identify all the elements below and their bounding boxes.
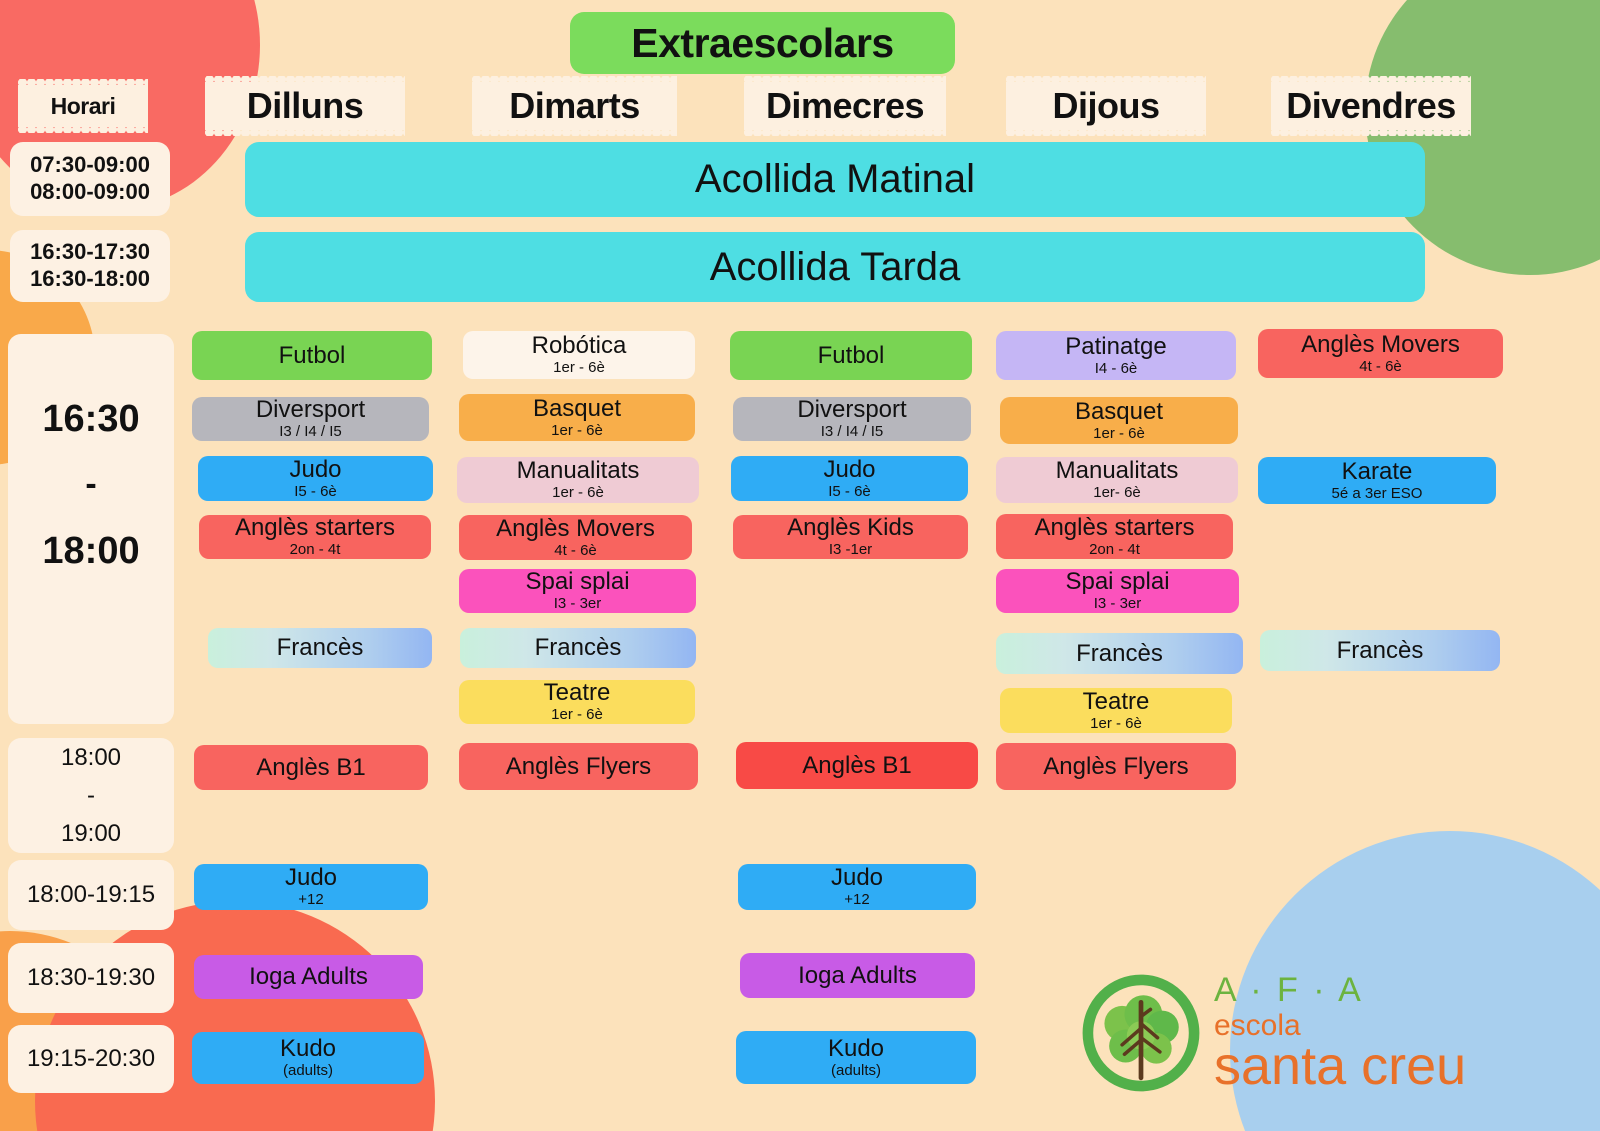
activity-dijous-spai-splai[interactable]: Spai splai I3 - 3er [996, 569, 1239, 613]
activity-sub: 1er - 6è [551, 422, 603, 439]
time-line: 16:30-17:30 [30, 239, 150, 266]
time-line: 18:00 [61, 743, 121, 772]
activity-dimarts-basquet[interactable]: Basquet 1er - 6è [459, 394, 695, 441]
wide-bar-acollida-matinal[interactable]: Acollida Matinal [245, 142, 1425, 217]
page-title: Extraescolars [570, 12, 955, 74]
time-line: 16:30-18:00 [30, 266, 150, 293]
activity-sub: I3 -1er [829, 541, 872, 558]
activity-dimarts-robotica[interactable]: Robótica 1er - 6è [463, 331, 695, 379]
activity-dijous-angles-starters[interactable]: Anglès starters 2on - 4t [996, 514, 1233, 559]
time-line: 16:30 [42, 396, 139, 442]
activity-dijous-angles-flyers[interactable]: Anglès Flyers [996, 743, 1236, 790]
decorative-blob-bottom-left [35, 901, 435, 1131]
activity-sub: 1er - 6è [552, 484, 604, 501]
column-header-divendres: Divendres [1271, 82, 1471, 130]
activity-sub: I5 - 6è [294, 483, 337, 500]
activity-name: Judo [823, 457, 875, 482]
activity-dimarts-angles-movers[interactable]: Anglès Movers 4t - 6è [459, 515, 692, 560]
activity-sub: I3 / I4 / I5 [279, 423, 342, 440]
activity-name: Kudo [280, 1036, 336, 1061]
activity-sub: 1er - 6è [1090, 715, 1142, 732]
activity-sub: I3 / I4 / I5 [821, 423, 884, 440]
activity-divendres-angles-movers[interactable]: Anglès Movers 4t - 6è [1258, 329, 1503, 378]
activity-name: Judo [831, 865, 883, 890]
activity-name: Anglès Flyers [1043, 754, 1188, 779]
logo-santa-creu: santa creu [1214, 1039, 1466, 1093]
activity-name: Manualitats [1056, 458, 1179, 483]
time-card-evening3: 18:30-19:30 [8, 943, 174, 1013]
activity-sub: +12 [298, 891, 323, 908]
activity-sub: 4t - 6è [1359, 358, 1402, 375]
logo-afa: A · F · A [1214, 973, 1466, 1007]
activity-sub: I3 - 3er [1094, 595, 1142, 612]
activity-sub: 1er - 6è [551, 706, 603, 723]
activity-dimecres-ioga-adults[interactable]: Ioga Adults [740, 953, 975, 998]
activity-dijous-manualitats[interactable]: Manualitats 1er- 6è [996, 457, 1238, 503]
activity-dilluns-futbol[interactable]: Futbol [192, 331, 432, 380]
activity-sub: 1er - 6è [1093, 425, 1145, 442]
activity-name: Robótica [532, 333, 627, 358]
logo: A · F · A escola santa creu [1082, 960, 1542, 1105]
activity-sub: I5 - 6è [828, 483, 871, 500]
activity-name: Anglès Flyers [506, 754, 651, 779]
activity-dimecres-judo[interactable]: Judo I5 - 6è [731, 456, 968, 501]
time-line: 19:00 [61, 819, 121, 848]
activity-name: Anglès starters [235, 515, 395, 540]
activity-sub: (adults) [831, 1062, 881, 1079]
activity-name: Manualitats [517, 458, 640, 483]
activity-name: Futbol [818, 343, 885, 368]
time-card-morning: 07:30-09:00 08:00-09:00 [10, 142, 170, 216]
activity-dimarts-manualitats[interactable]: Manualitats 1er - 6è [457, 457, 699, 503]
activity-sub: 5é a 3er ESO [1332, 485, 1423, 502]
column-header-dimarts: Dimarts [472, 82, 677, 130]
activity-name: Basquet [1075, 399, 1163, 424]
time-line: 18:30-19:30 [27, 963, 155, 992]
activity-dilluns-kudo[interactable]: Kudo (adults) [192, 1032, 424, 1084]
time-line: 18:00 [42, 528, 139, 574]
activity-name: Francès [1076, 641, 1163, 666]
activity-name: Francès [277, 635, 364, 660]
time-card-evening2: 18:00-19:15 [8, 860, 174, 930]
wide-bar-label: Acollida Matinal [695, 157, 975, 202]
time-card-main: 16:30 - 18:00 [8, 334, 174, 724]
wide-bar-label: Acollida Tarda [710, 245, 961, 290]
time-card-evening4: 19:15-20:30 [8, 1025, 174, 1093]
column-header-dimecres: Dimecres [744, 82, 946, 130]
activity-sub: 4t - 6è [554, 542, 597, 559]
activity-dimecres-angles-b1[interactable]: Anglès B1 [736, 742, 978, 789]
activity-dilluns-angles-b1[interactable]: Anglès B1 [194, 745, 428, 790]
activity-name: Basquet [533, 396, 621, 421]
activity-dijous-frances[interactable]: Francès [996, 633, 1243, 674]
time-line: - [85, 464, 96, 505]
activity-name: Anglès Movers [1301, 332, 1460, 357]
activity-dijous-basquet[interactable]: Basquet 1er - 6è [1000, 397, 1238, 444]
activity-dilluns-frances[interactable]: Francès [208, 628, 432, 668]
activity-dimarts-angles-flyers[interactable]: Anglès Flyers [459, 743, 698, 790]
activity-divendres-frances[interactable]: Francès [1260, 630, 1500, 671]
activity-dilluns-angles-starters[interactable]: Anglès starters 2on - 4t [199, 515, 431, 559]
activity-name: Anglès Movers [496, 516, 655, 541]
activity-name: Spai splai [1065, 569, 1169, 594]
activity-name: Karate [1342, 459, 1413, 484]
activity-sub: 2on - 4t [1089, 541, 1140, 558]
activity-name: Anglès starters [1034, 515, 1194, 540]
activity-name: Teatre [544, 680, 611, 705]
activity-sub: I4 - 6è [1095, 360, 1138, 377]
tree-icon [1082, 974, 1200, 1092]
activity-dimecres-judo-12[interactable]: Judo +12 [738, 864, 976, 910]
activity-dilluns-diversport[interactable]: Diversport I3 / I4 / I5 [192, 397, 429, 441]
column-header-horari: Horari [18, 85, 148, 127]
activity-sub: I3 - 3er [554, 595, 602, 612]
activity-name: Judo [289, 457, 341, 482]
activity-dilluns-judo-12[interactable]: Judo +12 [194, 864, 428, 910]
activity-dimecres-diversport[interactable]: Diversport I3 / I4 / I5 [733, 397, 971, 441]
activity-dimarts-spai-splai[interactable]: Spai splai I3 - 3er [459, 569, 696, 613]
time-line: 18:00-19:15 [27, 880, 155, 909]
activity-name: Patinatge [1065, 334, 1166, 359]
activity-sub: 2on - 4t [290, 541, 341, 558]
column-header-dijous: Dijous [1006, 82, 1206, 130]
activity-name: Ioga Adults [249, 964, 368, 989]
activity-sub: +12 [844, 891, 869, 908]
activity-dimecres-kudo[interactable]: Kudo (adults) [736, 1031, 976, 1084]
activity-divendres-karate[interactable]: Karate 5é a 3er ESO [1258, 457, 1496, 504]
wide-bar-acollida-tarda[interactable]: Acollida Tarda [245, 232, 1425, 302]
poster-canvas: Extraescolars Horari Dilluns Dimarts Dim… [0, 0, 1600, 1131]
activity-name: Ioga Adults [798, 963, 917, 988]
activity-name: Kudo [828, 1036, 884, 1061]
time-card-afternoon: 16:30-17:30 16:30-18:00 [10, 230, 170, 302]
column-header-dilluns: Dilluns [205, 82, 405, 130]
activity-dimarts-teatre[interactable]: Teatre 1er - 6è [459, 680, 695, 724]
activity-name: Anglès B1 [802, 753, 911, 778]
activity-sub: 1er - 6è [553, 359, 605, 376]
activity-dimarts-frances[interactable]: Francès [460, 628, 696, 668]
activity-sub: (adults) [283, 1062, 333, 1079]
activity-dilluns-judo[interactable]: Judo I5 - 6è [198, 456, 433, 501]
activity-name: Francès [1337, 638, 1424, 663]
activity-name: Anglès B1 [256, 755, 365, 780]
time-line: 19:15-20:30 [27, 1044, 155, 1073]
activity-name: Anglès Kids [787, 515, 914, 540]
activity-name: Futbol [279, 343, 346, 368]
activity-dijous-teatre[interactable]: Teatre 1er - 6è [1000, 688, 1232, 733]
time-line: 08:00-09:00 [30, 179, 150, 206]
activity-name: Judo [285, 865, 337, 890]
activity-dimecres-futbol[interactable]: Futbol [730, 331, 972, 380]
activity-dijous-patinatge[interactable]: Patinatge I4 - 6è [996, 331, 1236, 380]
time-line: 07:30-09:00 [30, 152, 150, 179]
activity-name: Spai splai [525, 569, 629, 594]
activity-name: Teatre [1083, 689, 1150, 714]
time-card-evening1: 18:00 - 19:00 [8, 738, 174, 853]
time-line: - [87, 781, 95, 810]
activity-name: Francès [535, 635, 622, 660]
activity-name: Diversport [256, 397, 365, 422]
activity-dilluns-ioga-adults[interactable]: Ioga Adults [194, 955, 423, 999]
activity-sub: 1er- 6è [1093, 484, 1141, 501]
activity-dimecres-angles-kids[interactable]: Anglès Kids I3 -1er [733, 515, 968, 559]
activity-name: Diversport [797, 397, 906, 422]
